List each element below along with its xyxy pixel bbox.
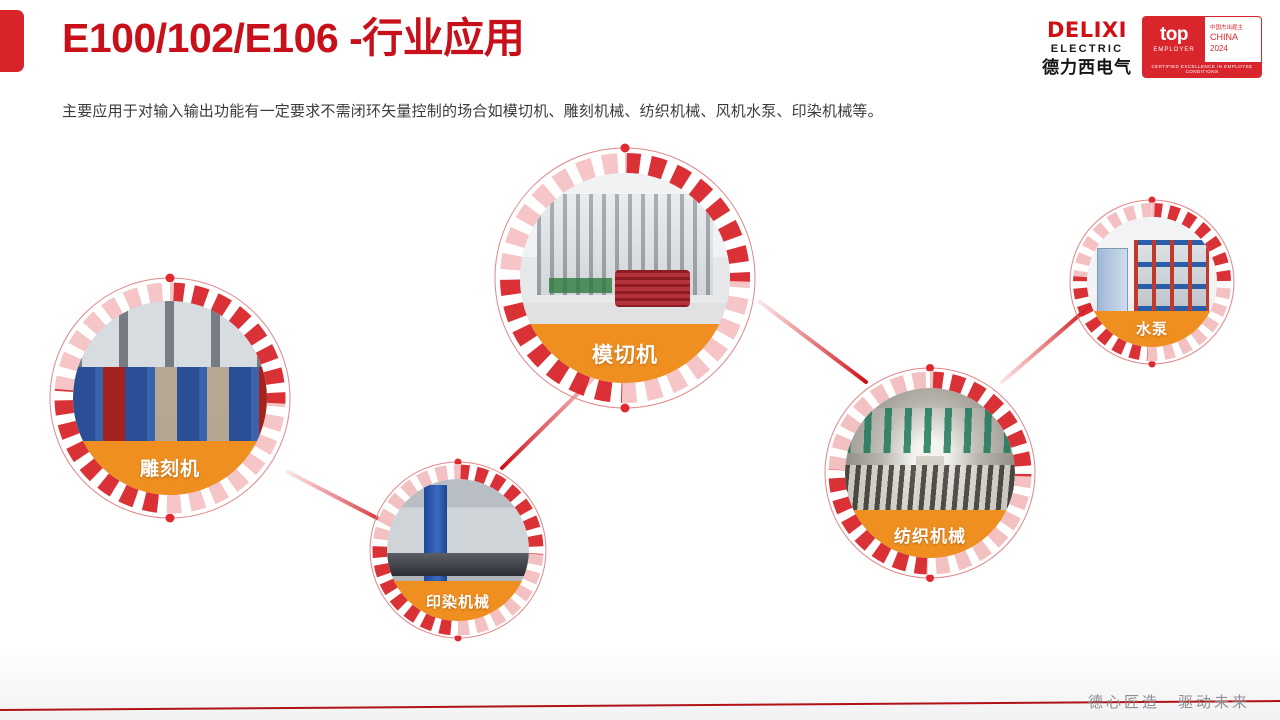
application-diagram: 模切机 雕刻机 印染机械 纺织机械 水泵	[0, 130, 1280, 670]
top-employer-badge: top EMPLOYER 中国杰出雇主 CHINA 2024 CERTIFIED…	[1142, 16, 1262, 78]
top-employer-chinese: 中国杰出雇主	[1210, 25, 1261, 32]
brand-logos: DELIXI ELECTRIC 德力西电气 top EMPLOYER 中国杰出雇…	[1042, 16, 1262, 78]
node-textile[interactable]: 纺织机械	[845, 388, 1015, 558]
delixi-electric-label: ELECTRIC	[1051, 44, 1124, 55]
node-die-cutting[interactable]: 模切机	[520, 173, 730, 383]
connector-textile-to-waterpump	[1002, 306, 1090, 382]
node-label-textile: 纺织机械	[845, 510, 1015, 558]
node-label-water-pump: 水泵	[1087, 311, 1217, 347]
top-employer-details: 中国杰出雇主 CHINA 2024	[1205, 17, 1261, 62]
top-employer-employer-text: EMPLOYER	[1153, 47, 1194, 53]
delixi-chinese-name: 德力西电气	[1042, 59, 1132, 76]
top-employer-badge-body: top EMPLOYER 中国杰出雇主 CHINA 2024	[1143, 17, 1261, 62]
top-employer-mark: top EMPLOYER	[1143, 17, 1205, 62]
connector-diecutting-to-textile	[760, 302, 866, 382]
node-dyeing[interactable]: 印染机械	[387, 479, 529, 621]
node-label-engraving: 雕刻机	[73, 441, 267, 495]
node-engraving[interactable]: 雕刻机	[73, 301, 267, 495]
node-label-die-cutting: 模切机	[520, 324, 730, 383]
node-water-pump[interactable]: 水泵	[1087, 217, 1217, 347]
top-employer-top-text: top	[1160, 26, 1188, 44]
top-employer-footer-text: CERTIFIED EXCELLENCE IN EMPLOYEE CONDITI…	[1143, 62, 1261, 77]
page-title-chinese: 行业应用	[362, 15, 524, 61]
delixi-wordmark: DELIXI	[1047, 20, 1127, 41]
page-title-model: E100/102/E106	[62, 15, 338, 61]
header-accent-tab	[0, 10, 24, 72]
delixi-logo: DELIXI ELECTRIC 德力西电气	[1042, 16, 1132, 76]
page-subtitle: 主要应用于对输入输出功能有一定要求不需闭环矢量控制的场合如模切机、雕刻机械、纺织…	[62, 100, 883, 121]
page-title: E100/102/E106 -行业应用	[62, 14, 524, 63]
top-employer-country: CHINA	[1210, 32, 1261, 44]
top-employer-year: 2024	[1210, 44, 1261, 54]
node-label-dyeing: 印染机械	[387, 581, 529, 621]
page-title-separator: -	[338, 15, 362, 61]
footer-slogan: 德心匠造 驱动未来	[1088, 691, 1250, 712]
